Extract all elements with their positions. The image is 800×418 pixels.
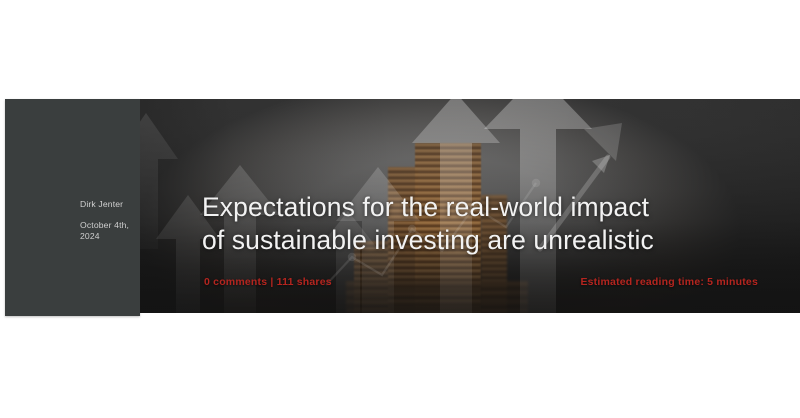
byline: Dirk Jenter October 4th, 2024 [80, 198, 142, 242]
author-name[interactable]: Dirk Jenter [80, 198, 142, 210]
hero-text-overlay: Expectations for the real-world impact o… [140, 99, 800, 313]
reading-time-badge: Estimated reading time: 5 minutes [580, 276, 758, 288]
page-title: Expectations for the real-world impact o… [202, 191, 762, 257]
hero-meta-row: 0 comments | 111 shares Estimated readin… [204, 276, 764, 288]
publish-date: October 4th, 2024 [80, 220, 142, 242]
engagement-meta[interactable]: 0 comments | 111 shares [204, 276, 332, 288]
article-hero-wrapper: Expectations for the real-world impact o… [0, 0, 800, 418]
article-hero-banner[interactable]: Expectations for the real-world impact o… [140, 99, 800, 313]
